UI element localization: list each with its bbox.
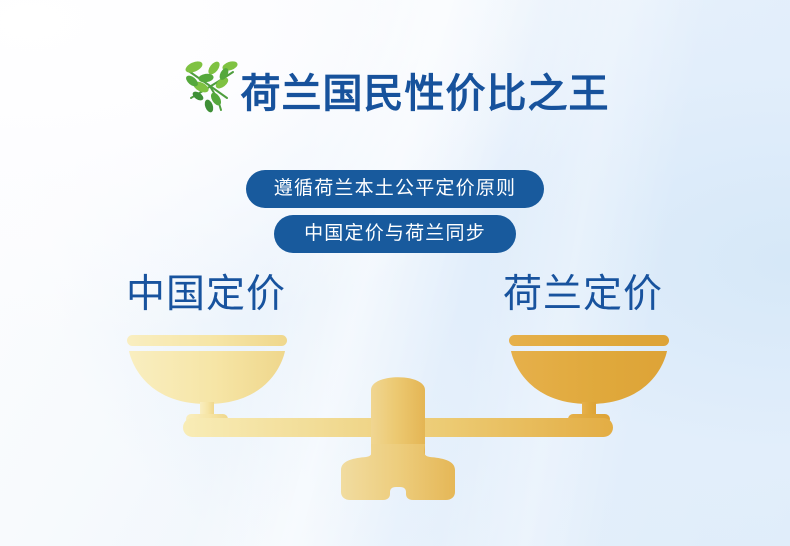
scale-pan-left <box>127 335 287 424</box>
banner-title-row: 荷兰国民性价比之王 <box>0 60 790 128</box>
scale-pan-right <box>509 335 669 424</box>
badge-pricing-principle: 遵循荷兰本土公平定价原则 <box>246 170 544 208</box>
badge-list: 遵循荷兰本土公平定价原则 中国定价与荷兰同步 <box>0 170 790 253</box>
promo-banner: 荷兰国民性价比之王 遵循荷兰本土公平定价原则 中国定价与荷兰同步 中国定价 荷兰… <box>0 0 790 546</box>
balance-scale-icon <box>0 326 790 526</box>
page-title: 荷兰国民性价比之王 <box>241 74 610 114</box>
scale-base <box>341 444 455 500</box>
leaf-branch-icon <box>181 58 245 116</box>
badge-pricing-sync: 中国定价与荷兰同步 <box>274 215 516 253</box>
scale-labels: 中国定价 荷兰定价 <box>0 275 790 327</box>
scale-label-right: 荷兰定价 <box>503 275 663 314</box>
scale-label-left: 中国定价 <box>126 275 286 314</box>
